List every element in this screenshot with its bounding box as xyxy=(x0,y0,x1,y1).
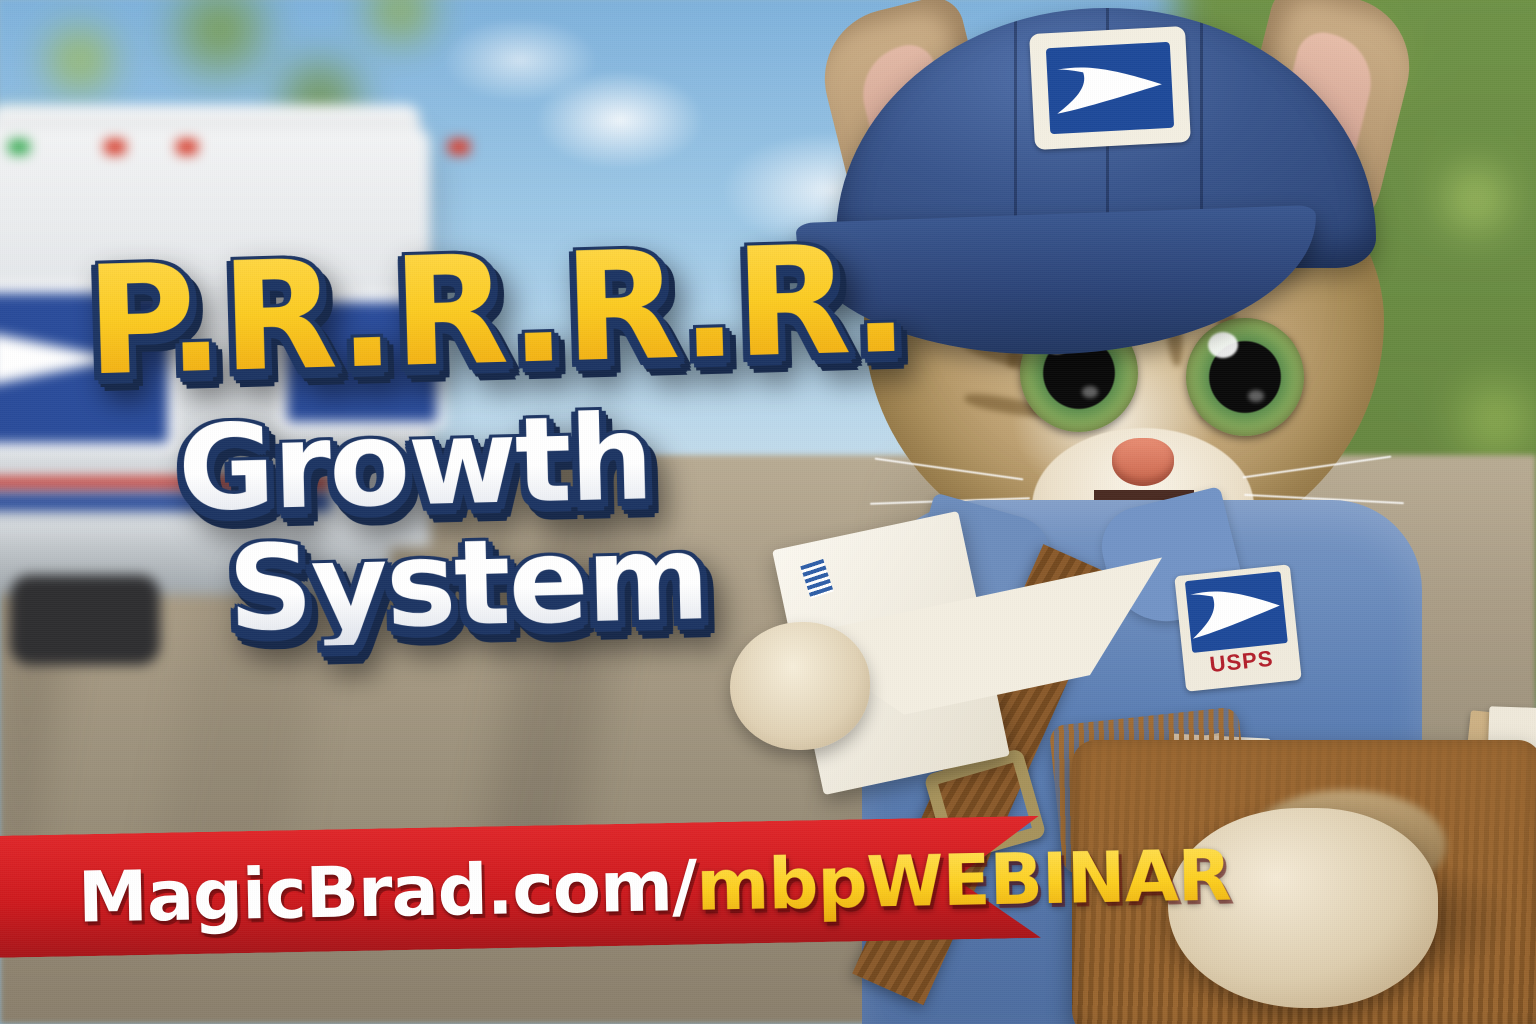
usps-eagle-icon xyxy=(1185,571,1288,653)
usps-eagle-icon xyxy=(1046,42,1174,134)
cap-usps-patch xyxy=(1029,26,1191,150)
usps-shoulder-patch: USPS xyxy=(1174,564,1301,691)
usps-eagle-icon xyxy=(1052,54,1167,122)
usps-eagle-icon xyxy=(1185,571,1288,653)
url-banner-text[interactable]: MagicBrad.com/mbpWEBINAR xyxy=(0,818,1061,960)
poster-canvas: KITTY USPS xyxy=(0,0,1536,1024)
url-path: mbpWEBINAR xyxy=(696,835,1232,927)
cat-eye-right xyxy=(1186,318,1304,436)
cap-seam xyxy=(1014,8,1017,238)
cap-seam xyxy=(1200,8,1203,238)
cat-whisker xyxy=(1243,456,1392,479)
url-domain: MagicBrad.com/ xyxy=(77,845,697,939)
page-title: P.R.R.R.R. xyxy=(84,225,908,398)
cat-nose xyxy=(1112,438,1174,486)
usps-patch-label: USPS xyxy=(1209,648,1275,677)
title-block: P.R.R.R.R. Growth System xyxy=(0,0,900,700)
subtitle-line-2: System xyxy=(227,518,709,648)
subtitle-line-1: Growth xyxy=(177,398,653,528)
